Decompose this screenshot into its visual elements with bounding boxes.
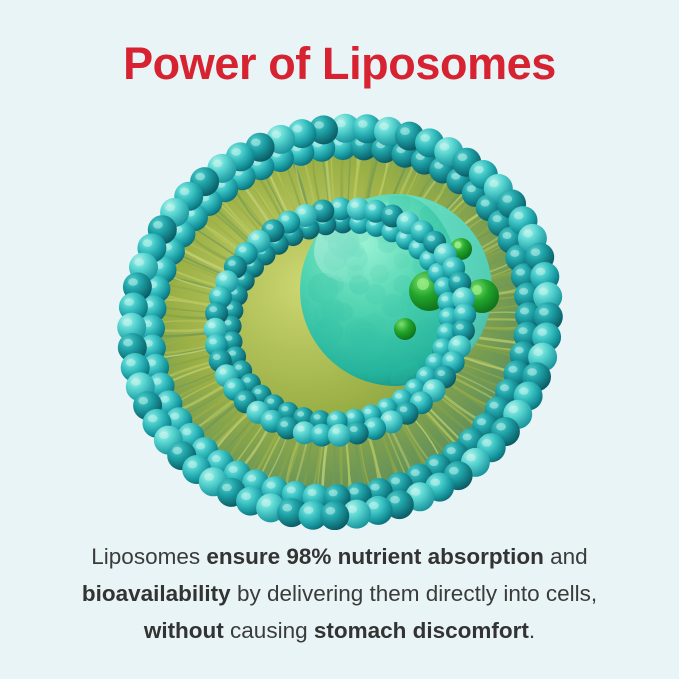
liposome-illustration [108, 110, 578, 530]
caption-text: Liposomes ensure 98% nutrient absorption… [18, 538, 661, 649]
poster-canvas: Power of Liposomes [0, 0, 679, 679]
caption-line-2: bioavailability by delivering them direc… [18, 575, 661, 612]
caption-line-1: Liposomes ensure 98% nutrient absorption… [18, 538, 661, 575]
page-title: Power of Liposomes [0, 38, 679, 90]
caption-line-3: without causing stomach discomfort. [18, 612, 661, 649]
